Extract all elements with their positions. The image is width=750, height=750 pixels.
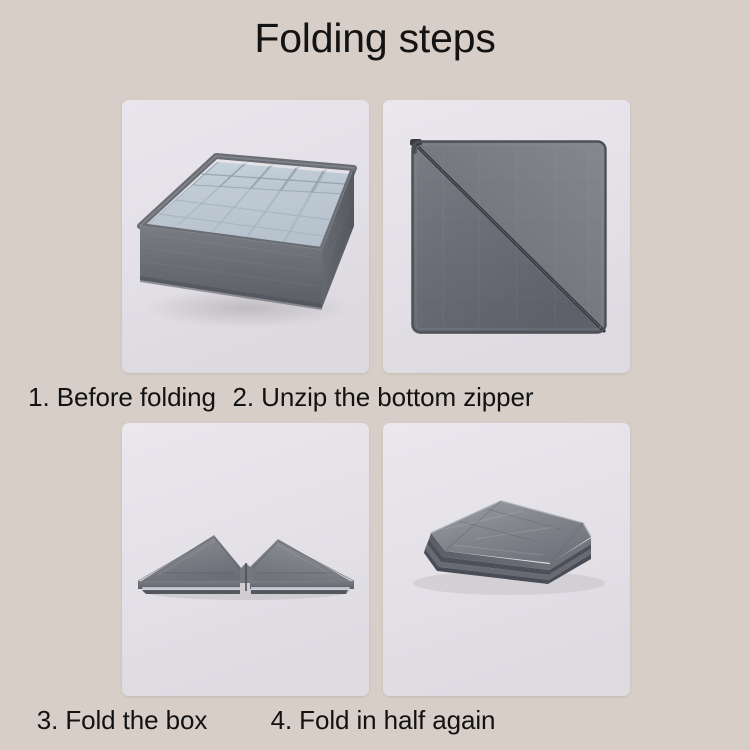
step-3-photo [122, 423, 369, 696]
folded-box-illustration [122, 423, 369, 696]
step-2-caption: 2. Unzip the bottom zipper [233, 382, 534, 412]
folding-steps-page: Folding steps [0, 0, 750, 750]
step-1-photo [122, 100, 369, 373]
step-4-photo [383, 423, 630, 696]
step-2-photo [383, 100, 630, 373]
step-1-caption: 1. Before folding [28, 382, 216, 412]
unzipped-square-illustration [383, 100, 630, 373]
page-title: Folding steps [0, 12, 750, 64]
folded-stack-illustration [383, 423, 630, 696]
organizer-illustration [122, 100, 369, 373]
step-4-caption: 4. Fold in half again [271, 705, 496, 735]
step-3-caption: 3. Fold the box [37, 705, 208, 735]
